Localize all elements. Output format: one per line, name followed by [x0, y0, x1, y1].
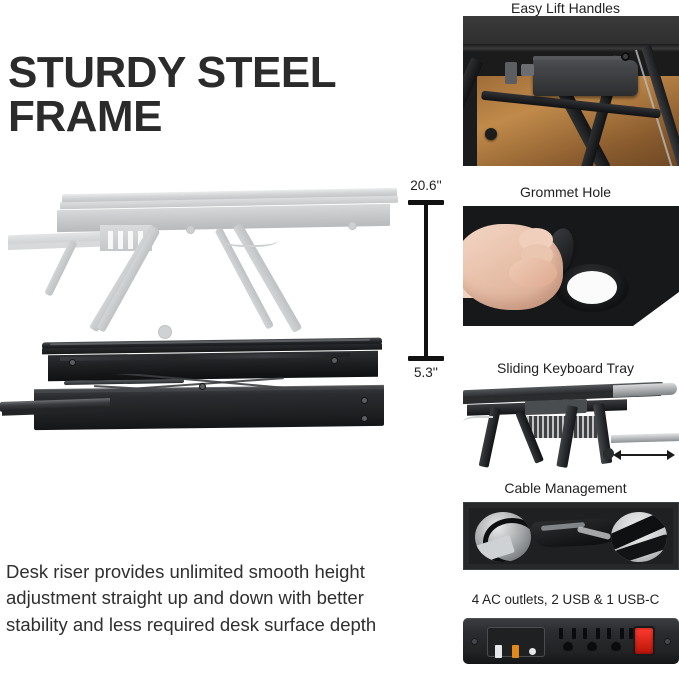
- photo-desktop-tip: [613, 383, 677, 398]
- ghost-scissor-pivot: [158, 325, 172, 339]
- lift-handle: [533, 60, 638, 96]
- feature-photo-power-outlets: [463, 618, 679, 668]
- feature-panel-power-outlets: 4 AC outlets, 2 USB & 1 USB-C: [452, 592, 679, 608]
- photo-thumb: [509, 258, 557, 288]
- left-column: STURDY STEEL FRAME: [0, 0, 452, 675]
- page-title: STURDY STEEL FRAME: [8, 51, 428, 137]
- page-title-line1: STURDY STEEL: [8, 48, 336, 97]
- usb-c-port[interactable]: [529, 648, 536, 655]
- feature-photo-sliding-keyboard-tray: [463, 382, 679, 468]
- ghost-pin-1: [186, 225, 195, 234]
- cable-grommet-right: [611, 512, 667, 562]
- ghost-pin-2: [348, 221, 357, 230]
- frame-screw-2: [332, 358, 337, 363]
- frame-screw-4: [362, 398, 367, 403]
- photo-handle-square: [521, 64, 534, 76]
- dimension-stem: [424, 203, 428, 358]
- dimension-cap-bottom: [408, 356, 444, 361]
- height-dimension-indicator: 20.6'' 5.3'': [398, 178, 454, 388]
- photo-panel-inner: [469, 508, 673, 564]
- feature-title-grommet-hole: Grommet Hole: [452, 184, 679, 200]
- max-height-label: 20.6'': [398, 178, 454, 193]
- feature-panel-sliding-keyboard-tray: Sliding Keyboard Tray: [452, 360, 679, 376]
- feature-panel-grommet-hole: Grommet Hole: [452, 184, 679, 200]
- feature-title-easy-lift-handles: Easy Lift Handles: [452, 0, 679, 16]
- slide-direction-arrow-icon: [613, 448, 675, 462]
- feature-photo-easy-lift-handles: [463, 16, 679, 166]
- power-strip-body: [463, 618, 679, 664]
- riser-lowered-solid: [0, 340, 400, 450]
- feature-panel-easy-lift-handles: Easy Lift Handles: [452, 0, 679, 16]
- grommet-hole-opening: [567, 271, 617, 304]
- sliding-keyboard-tray: [611, 433, 679, 443]
- feature-title-sliding-keyboard-tray: Sliding Keyboard Tray: [452, 360, 679, 376]
- usb-a-port-1[interactable]: [495, 645, 502, 658]
- frame-screw-1: [70, 360, 75, 365]
- photo-desktop-surface: [463, 16, 679, 46]
- feature-title-cable-management: Cable Management: [452, 480, 679, 496]
- power-switch[interactable]: [633, 626, 655, 656]
- frame-screw-3: [200, 384, 205, 389]
- photo-bolt-2: [485, 128, 497, 140]
- ghost-gas-spring-cable: [222, 231, 278, 247]
- photo-handle-tab: [505, 62, 517, 84]
- usb-port-plate: [487, 627, 545, 657]
- power-strip-screw-right: [664, 638, 671, 645]
- photo-tray-bracket: [525, 399, 587, 415]
- feature-title-power-outlets: 4 AC outlets, 2 USB & 1 USB-C: [452, 592, 679, 608]
- photo-wire: [463, 416, 493, 428]
- cable-grommet-left: [475, 512, 531, 562]
- power-strip-screw-left: [471, 638, 478, 645]
- feature-photo-grommet-hole: [463, 206, 679, 326]
- page-title-line2: FRAME: [8, 95, 428, 138]
- description-text: Desk riser provides unlimited smooth hei…: [6, 559, 386, 639]
- usb-a-port-2[interactable]: [512, 645, 519, 658]
- infographic-root: STURDY STEEL FRAME: [0, 0, 679, 675]
- frame-screw-5: [362, 416, 367, 421]
- feature-photo-cable-management: [463, 502, 679, 570]
- min-height-label: 5.3'': [398, 365, 454, 380]
- product-illustration: [0, 185, 400, 450]
- feature-panel-cable-management: Cable Management: [452, 480, 679, 496]
- photo-bolt-1: [621, 52, 630, 61]
- feature-panel-column: Easy Lift Handles: [452, 0, 679, 675]
